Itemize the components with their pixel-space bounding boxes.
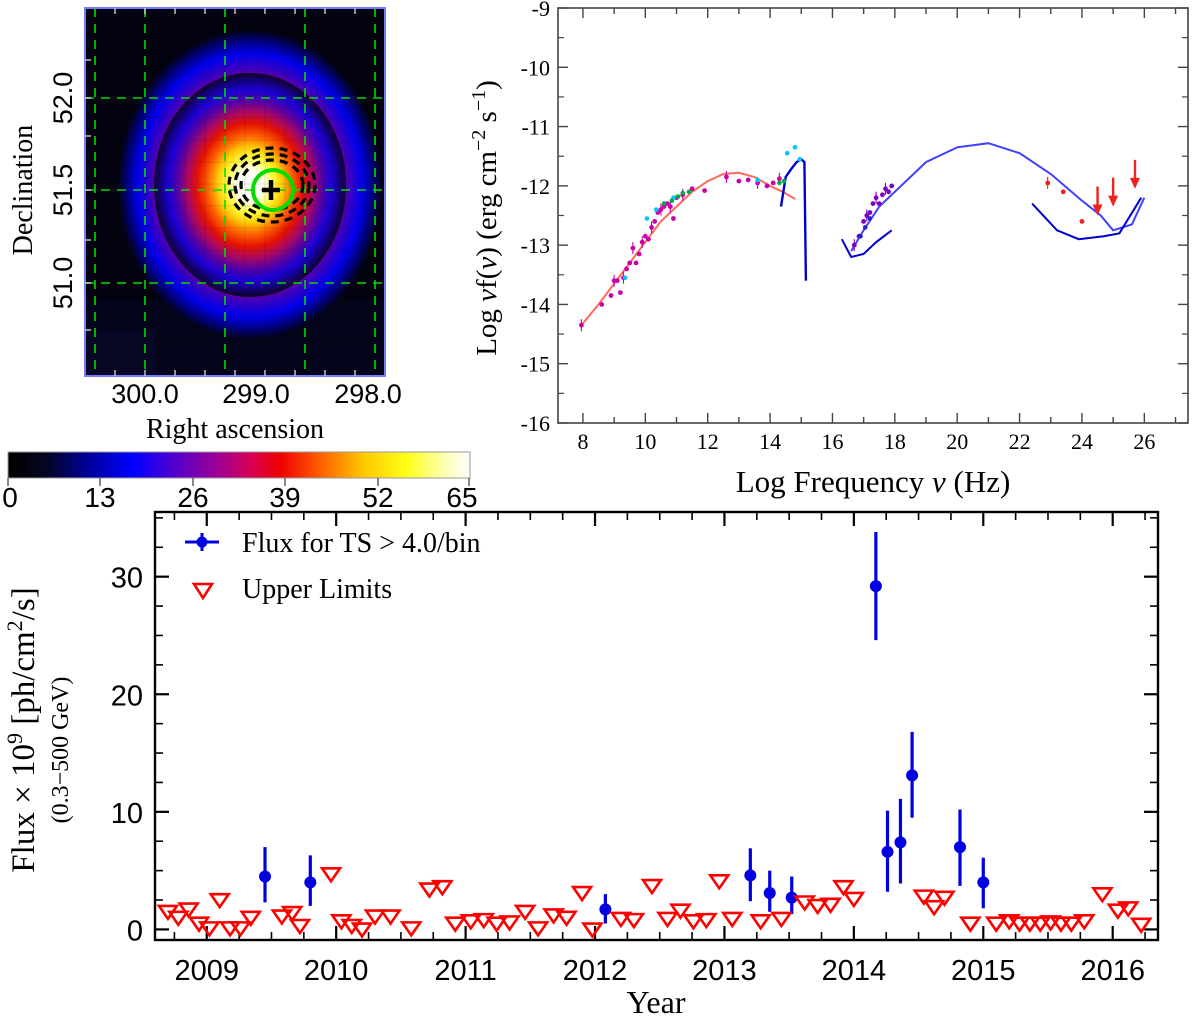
sed-yticklabel: -14: [521, 292, 550, 317]
sed-panel: 8101214161820222426 -9-10-11-12-13-14-15…: [470, 0, 1200, 512]
sed-point: [609, 293, 614, 298]
sed-point: [662, 201, 667, 206]
sed-point: [785, 151, 790, 156]
sed-point: [624, 267, 629, 272]
sed-xticklabel: 20: [946, 429, 968, 454]
sed-point: [877, 201, 882, 206]
sed-point: [645, 216, 650, 221]
lc-xticklabel: 2009: [175, 955, 240, 987]
lc-flux-point: [304, 876, 316, 888]
skymap-ytick-1: 51.5: [48, 164, 78, 217]
sed-point: [634, 261, 639, 266]
sed-point: [771, 181, 776, 186]
skymap-x-ticklabels: 300.0 299.0 298.0: [111, 379, 402, 409]
sed-point: [861, 219, 866, 224]
lc-flux-point: [599, 903, 611, 915]
lc-xticklabel: 2011: [434, 955, 496, 987]
sed-xlabel: Log Frequency ν (Hz): [736, 464, 1011, 499]
lightcurve-ylabel-line2: (0.3−500 GeV): [48, 677, 74, 824]
lightcurve-svg: 20092010201120122013201420152016 0102030…: [0, 505, 1200, 1016]
sed-point: [599, 302, 604, 307]
legend-label-flux: Flux for TS > 4.0/bin: [242, 528, 481, 559]
legend-marker-dot: [197, 537, 208, 548]
lc-yticklabel: 10: [111, 798, 143, 830]
lc-xticklabel: 2012: [563, 955, 628, 987]
skymap-y-ticklabels: 51.0 51.5 52.0: [48, 72, 78, 310]
sed-ylabel: Log νf(ν) (erg cm−2 s−1): [468, 80, 503, 356]
sed-yticklabel: -13: [521, 233, 550, 258]
sed-point: [777, 181, 782, 186]
lc-yticklabel: 20: [111, 680, 143, 712]
lc-flux-point: [882, 846, 894, 858]
sed-point: [670, 198, 675, 203]
sed-yticklabels: -9-10-11-12-13-14-15-16: [521, 0, 550, 436]
lc-yticklabel: 0: [127, 915, 143, 947]
sed-point: [868, 216, 873, 221]
lc-flux-point: [977, 876, 989, 888]
sed-point: [654, 207, 659, 212]
lightcurve-yticklabels: 0102030: [111, 563, 143, 948]
lc-flux-point: [870, 580, 882, 592]
sed-point: [858, 234, 863, 239]
sed-xticklabel: 18: [884, 429, 906, 454]
skymap-xtick-1: 299.0: [222, 379, 290, 409]
sed-point: [646, 237, 651, 242]
sed-point: [737, 179, 742, 184]
sed-point: [1080, 219, 1085, 224]
sed-xticklabel: 22: [1009, 429, 1031, 454]
lc-flux-point: [259, 871, 271, 883]
sed-point: [755, 178, 760, 183]
sed-point: [676, 194, 681, 199]
sed-point: [652, 219, 657, 224]
lc-xticklabel: 2015: [951, 955, 1016, 987]
sed-point: [793, 145, 798, 150]
sed-point: [1061, 189, 1066, 194]
sed-point: [687, 190, 692, 195]
lc-flux-point: [764, 887, 776, 899]
sky-map-svg: 300.0 299.0 298.0 Right ascension 51.0 5…: [0, 0, 470, 510]
lc-flux-point: [744, 869, 756, 881]
sed-point: [615, 278, 620, 283]
colorbar: [8, 452, 470, 478]
sed-point: [871, 201, 876, 206]
sed-point: [868, 210, 873, 215]
sed-yticklabel: -10: [521, 55, 550, 80]
sed-point: [863, 225, 868, 230]
lightcurve-panel: 20092010201120122013201420152016 0102030…: [0, 505, 1200, 1016]
skymap-ylabel: Declination: [8, 125, 39, 256]
sed-xticklabel: 8: [577, 429, 588, 454]
sed-yticklabel: -16: [521, 411, 550, 436]
lc-xticklabel: 2010: [304, 955, 369, 987]
sed-point: [886, 189, 891, 194]
sed-svg: 8101214161820222426 -9-10-11-12-13-14-15…: [470, 0, 1200, 512]
sed-point: [889, 184, 894, 189]
sky-map-panel: 300.0 299.0 298.0 Right ascension 51.0 5…: [0, 0, 470, 510]
skymap-ytick-2: 52.0: [48, 72, 78, 125]
colorbar-ticks: [8, 478, 469, 486]
sed-yticklabel: -9: [532, 0, 550, 21]
lightcurve-xlabel: Year: [627, 984, 686, 1016]
sed-xticklabel: 24: [1071, 429, 1093, 454]
lightcurve-ylabel-line1: Flux × 109 [ph/cm2/s]: [2, 587, 43, 872]
lightcurve-xticklabels: 20092010201120122013201420152016: [175, 955, 1145, 987]
sed-yticklabel: -12: [521, 174, 550, 199]
lc-flux-point: [894, 836, 906, 848]
sed-xticklabel: 14: [759, 429, 781, 454]
sed-point: [765, 184, 770, 189]
sed-point: [637, 252, 642, 257]
lc-flux-point: [906, 769, 918, 781]
sed-point: [797, 157, 802, 162]
lc-xticklabel: 2016: [1080, 955, 1145, 987]
sed-point: [702, 188, 707, 193]
skymap-ytick-0: 51.0: [48, 257, 78, 310]
lc-flux-point: [954, 841, 966, 853]
legend-label-upperlimits: Upper Limits: [242, 574, 392, 605]
lc-xticklabel: 2014: [822, 955, 887, 987]
sed-point: [618, 290, 623, 295]
skymap-xtick-0: 300.0: [111, 379, 179, 409]
sed-point: [623, 276, 628, 281]
sed-point: [880, 192, 885, 197]
lc-yticklabel: 30: [111, 563, 143, 595]
sed-xticklabel: 16: [821, 429, 843, 454]
sed-point: [627, 261, 632, 266]
sed-point: [782, 179, 787, 184]
skymap-xtick-2: 298.0: [334, 379, 402, 409]
sed-xticklabel: 10: [634, 429, 656, 454]
sed-point: [681, 191, 686, 196]
skymap-xlabel: Right ascension: [146, 414, 324, 445]
sed-xticklabel: 26: [1133, 429, 1155, 454]
sed-xticklabels: 8101214161820222426: [577, 429, 1155, 454]
sed-point: [671, 216, 676, 221]
sed-point: [746, 178, 751, 183]
sed-xticklabel: 12: [697, 429, 719, 454]
sed-yticklabel: -11: [521, 115, 550, 140]
sed-yticklabel: -15: [521, 352, 550, 377]
lc-xticklabel: 2013: [692, 955, 757, 987]
